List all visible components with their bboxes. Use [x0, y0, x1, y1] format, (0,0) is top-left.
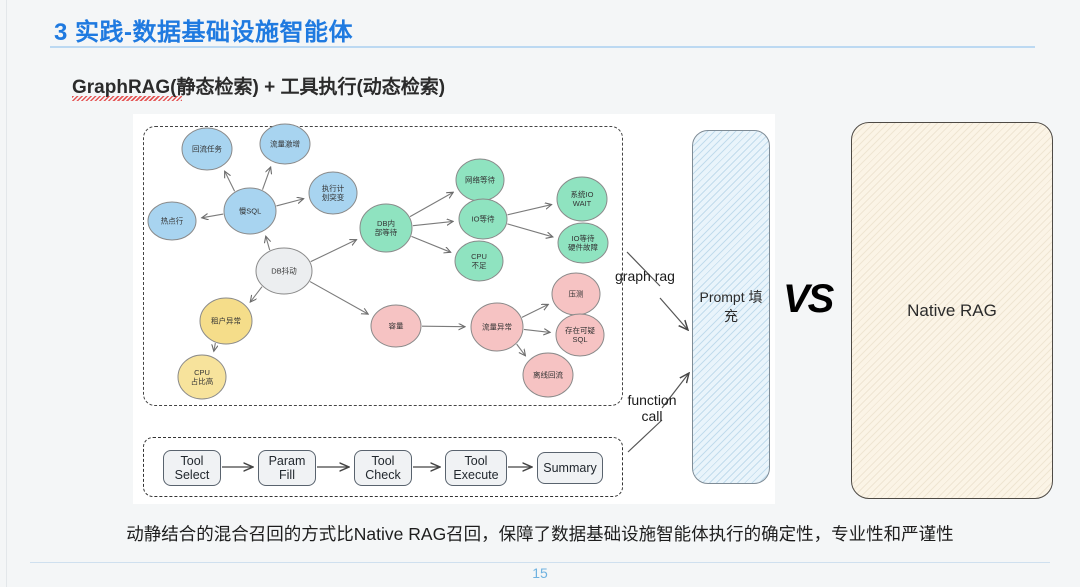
native-rag-box: Native RAG [851, 122, 1053, 499]
section-subtitle: GraphRAG(静态检索) + 工具执行(动态检索) [72, 72, 445, 99]
vs-label: VS [783, 277, 832, 322]
native-rag-label: Native RAG [907, 301, 997, 321]
tool-step-label: Tool Execute [453, 454, 498, 482]
prompt-fill-box: Prompt 填充 [692, 130, 770, 484]
title-divider [50, 46, 1035, 48]
tool-step-summary[interactable]: Summary [537, 452, 603, 484]
left-edge-rule [6, 0, 7, 587]
prompt-fill-label: Prompt 填充 [693, 288, 769, 326]
tool-step-tool-check[interactable]: Tool Check [354, 450, 412, 486]
page-title: 3 实践-数据基础设施智能体 [54, 12, 353, 47]
tool-step-label: Summary [543, 461, 596, 475]
tool-step-param-fill[interactable]: Param Fill [258, 450, 316, 486]
spellcheck-underline [72, 96, 182, 101]
tool-step-tool-select[interactable]: Tool Select [163, 450, 221, 486]
tool-step-label: Param Fill [269, 454, 306, 482]
tool-step-label: Tool Select [175, 454, 210, 482]
slide-root: 3 实践-数据基础设施智能体 GraphRAG(静态检索) + 工具执行(动态检… [0, 0, 1080, 587]
page-number: 15 [0, 565, 1080, 581]
graph-rag-label: graph rag [615, 268, 675, 284]
tool-step-label: Tool Check [365, 454, 400, 482]
slide-caption: 动静结合的混合召回的方式比Native RAG召回，保障了数据基础设施智能体执行… [0, 521, 1080, 546]
function-call-label: function call [617, 392, 687, 424]
tool-step-tool-execute[interactable]: Tool Execute [445, 450, 507, 486]
graph-rag-region [143, 126, 623, 406]
footer-divider [30, 562, 1050, 563]
